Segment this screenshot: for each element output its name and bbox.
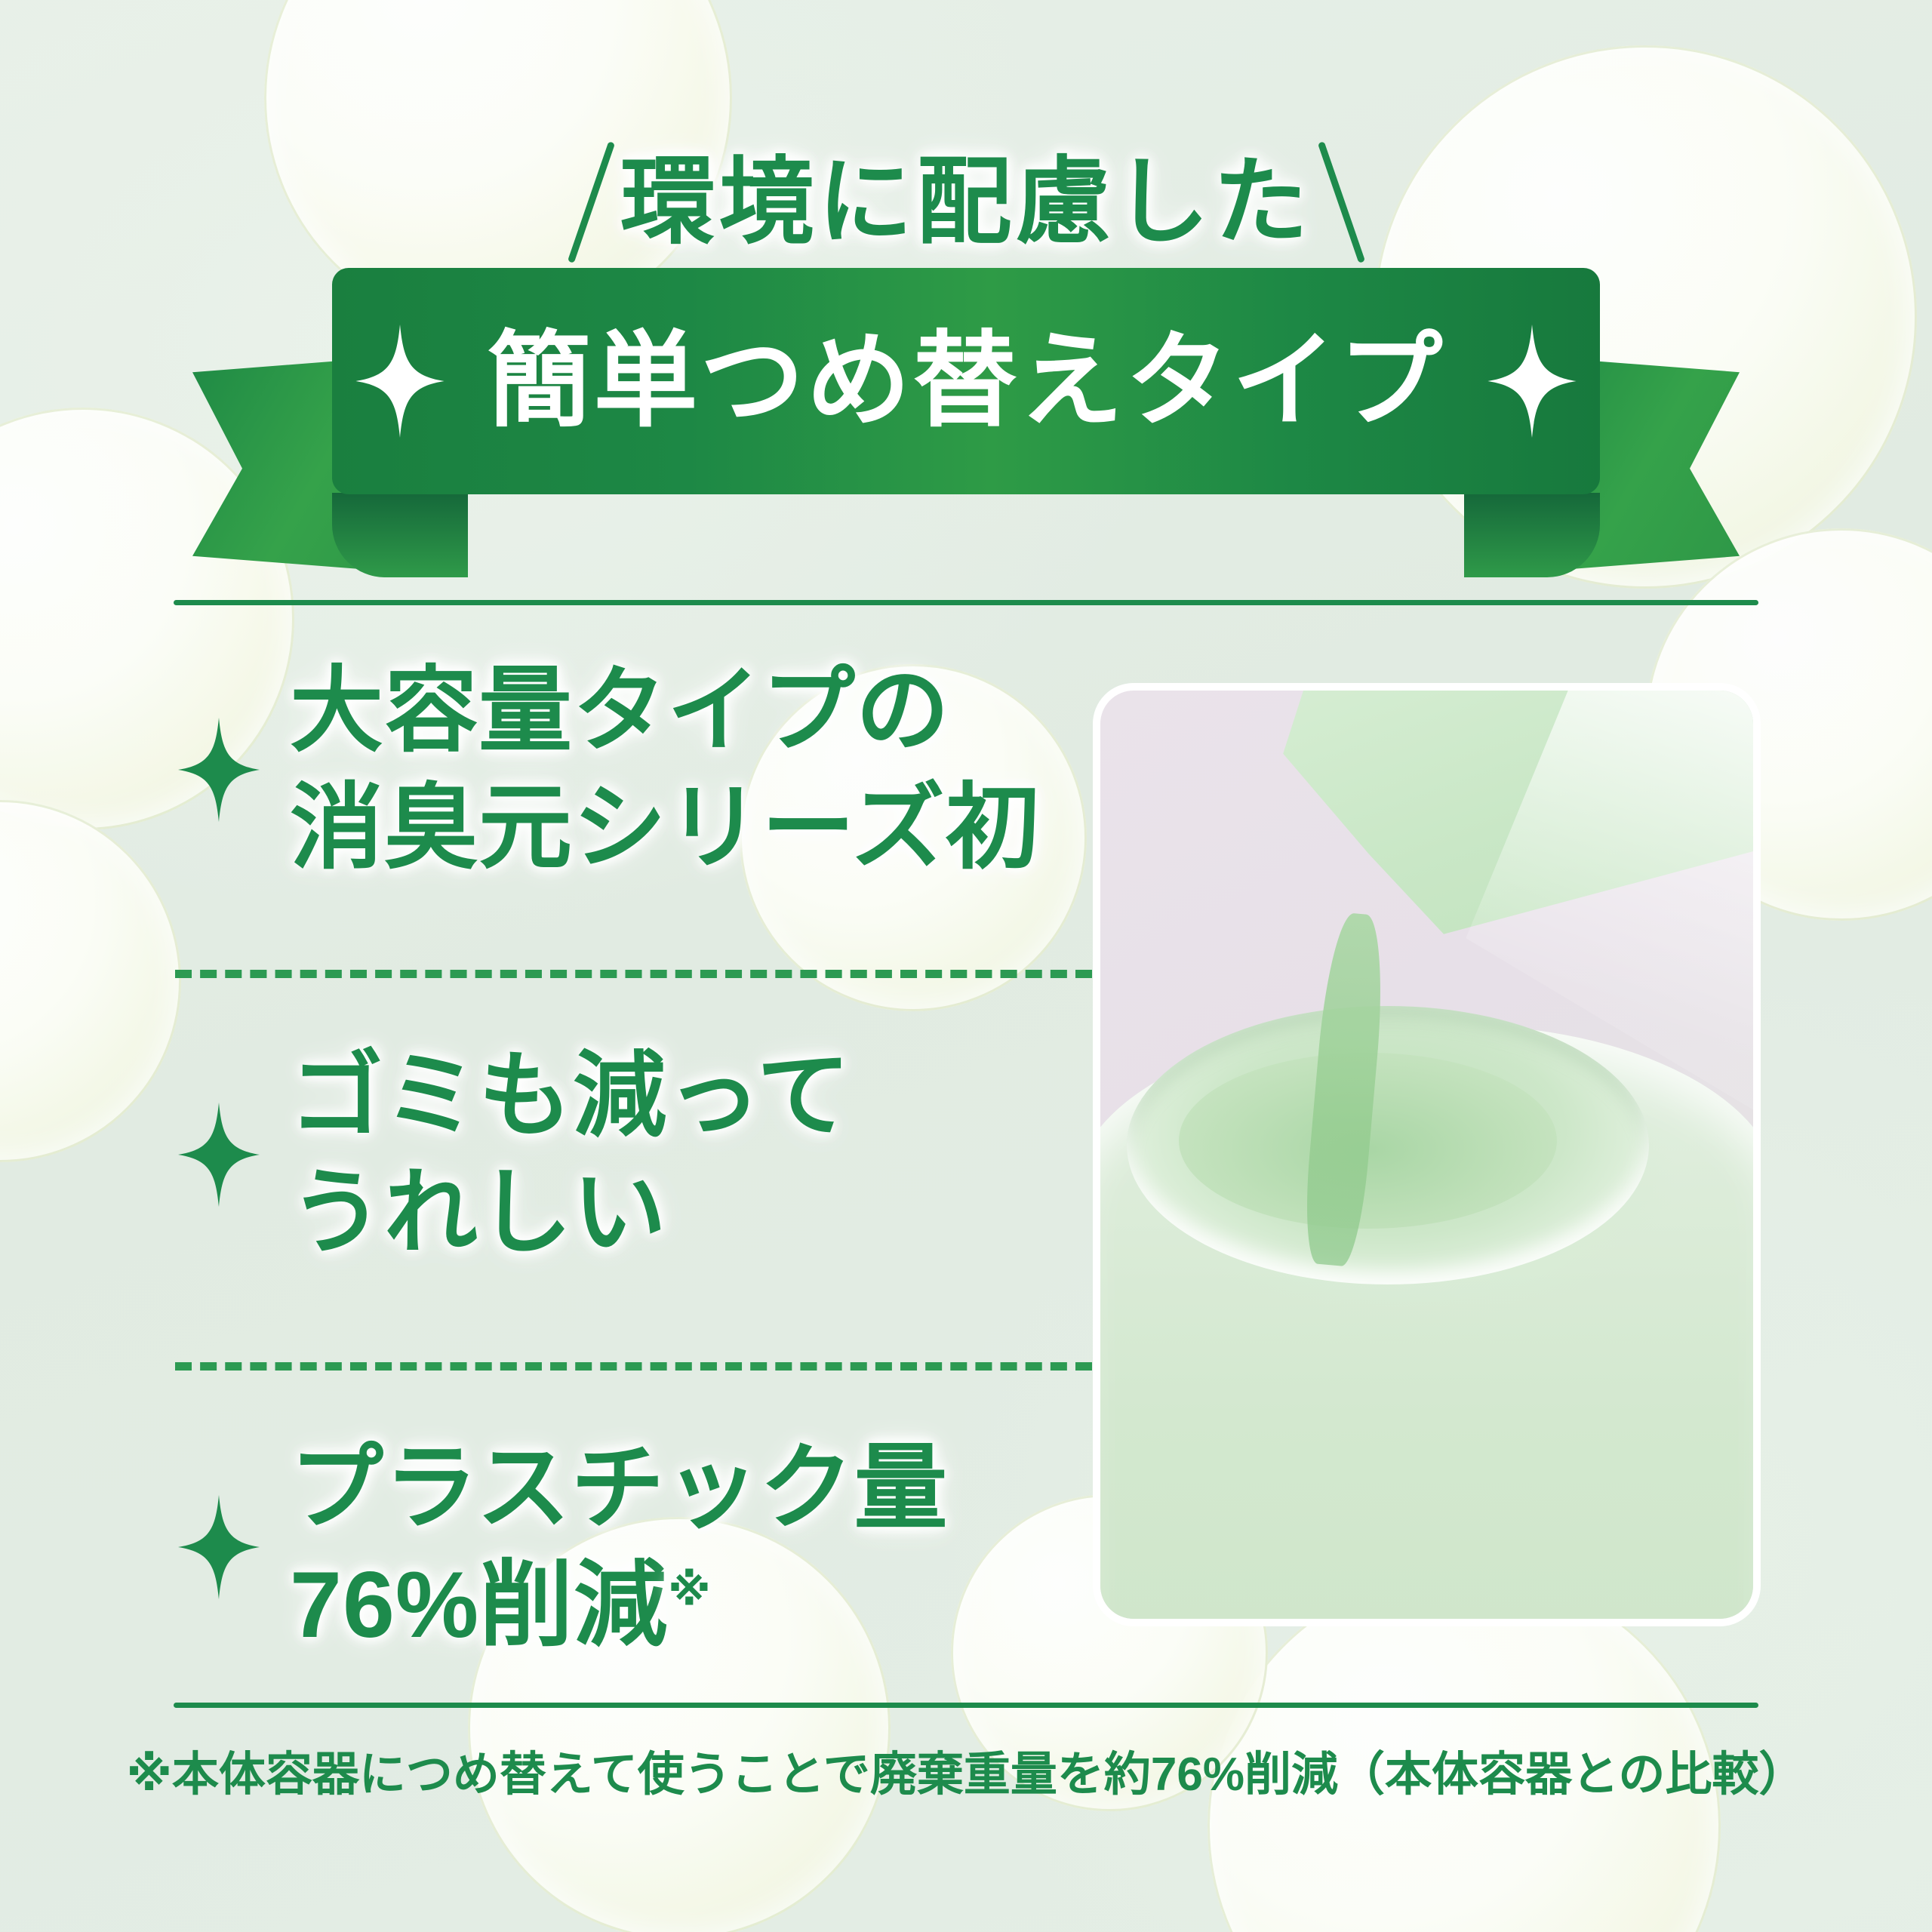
feature-item: 大容量タイプの 消臭元シリーズ初 <box>174 657 1040 883</box>
divider-bottom <box>174 1703 1758 1708</box>
eyebrow-text: 環境に配慮した <box>620 155 1312 250</box>
bubble-decoration <box>0 800 181 1162</box>
footnote-marker: ※ <box>668 1566 710 1615</box>
feature-line: ゴミも減って <box>290 1041 851 1151</box>
dotted-divider-2 <box>175 1362 1092 1371</box>
promo-banner: 環境に配慮した 簡単つめ替えタイプ <box>0 0 1932 1932</box>
feature-line: 消臭元シリーズ初 <box>290 774 1040 883</box>
product-photo <box>1093 683 1761 1626</box>
feature-line: 大容量タイプの <box>290 657 1040 766</box>
feature-item: プラスチック量 76%削減※ <box>174 1434 949 1660</box>
ribbon-title: 簡単つめ替えタイプ <box>487 329 1444 433</box>
dotted-divider-1 <box>175 970 1092 978</box>
ribbon-banner: 簡単つめ替えタイプ <box>0 268 1932 585</box>
sparkle-icon <box>174 717 264 823</box>
sparkle-icon <box>1487 325 1577 438</box>
sparkle-icon <box>174 1102 264 1207</box>
footnote-text: ※本体容器につめ替えて使うことで廃棄重量を約76%削減（本体容器との比較） <box>0 1736 1932 1804</box>
eyebrow-headline: 環境に配慮した <box>0 127 1932 278</box>
feature-line: プラスチック量 <box>290 1434 949 1543</box>
sparkle-icon <box>174 1494 264 1600</box>
divider-top <box>174 600 1758 605</box>
ribbon-fold-left <box>332 493 468 577</box>
feature-line-with-note: 76%削減※ <box>290 1551 949 1660</box>
feature-item: ゴミも減って うれしい <box>174 1041 851 1268</box>
feature-line: うれしい <box>290 1158 851 1268</box>
feature-line-text: 76%削減 <box>290 1553 668 1657</box>
slash-right-icon <box>1317 141 1364 263</box>
ribbon-main-panel: 簡単つめ替えタイプ <box>332 268 1600 494</box>
slash-left-icon <box>567 141 614 263</box>
ribbon-fold-right <box>1464 493 1600 577</box>
sparkle-icon <box>355 325 445 438</box>
